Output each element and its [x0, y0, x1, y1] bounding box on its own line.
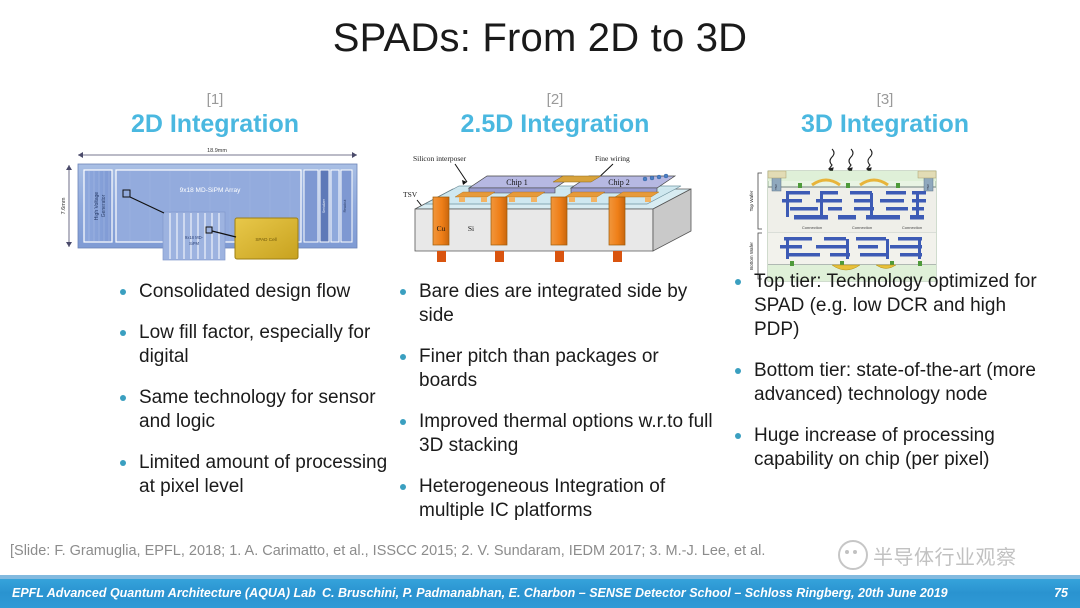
svg-text:Chip 2: Chip 2: [608, 178, 630, 187]
svg-text:TSV: TSV: [403, 190, 418, 199]
citation-note: [Slide: F. Gramuglia, EPFL, 2018; 1. A. …: [10, 543, 765, 559]
svg-text:TSV: TSV: [926, 184, 930, 190]
figure-3d-stacked-cross-section: TSV TSV: [720, 147, 1050, 287]
column-heading-3: 3D Integration: [720, 109, 1050, 139]
svg-text:Readout: Readout: [343, 200, 347, 213]
list-item: Heterogeneous Integration of multiple IC…: [395, 475, 720, 523]
list-item: Consolidated design flow: [115, 280, 405, 304]
svg-text:Serializer: Serializer: [322, 198, 326, 213]
list-item: Same technology for sensor and logic: [115, 386, 405, 434]
column-3d-integration: [3] 3D Integration: [720, 92, 1050, 287]
column-heading-1: 2D Integration: [60, 109, 370, 139]
watermark: 半导体行业观察: [838, 540, 1017, 570]
svg-text:18.9mm: 18.9mm: [207, 148, 227, 154]
column-2d-integration: [1] 2D Integration: [60, 92, 370, 265]
list-item: Finer pitch than packages or boards: [395, 345, 720, 393]
footer-bar: EPFL Advanced Quantum Architecture (AQUA…: [0, 579, 1080, 608]
footer-lab-name: EPFL Advanced Quantum Architecture (AQUA…: [12, 586, 316, 600]
svg-text:Silicon interposer: Silicon interposer: [413, 154, 467, 163]
list-item: Improved thermal options w.r.to full 3D …: [395, 410, 720, 458]
footer-page-number: 75: [1054, 586, 1068, 600]
list-item: Bottom tier: state-of-the-art (more adva…: [730, 359, 1055, 407]
column-heading-2: 2.5D Integration: [395, 109, 715, 139]
list-item: Huge increase of processing capability o…: [730, 424, 1055, 472]
list-item: Limited amount of processing at pixel le…: [115, 451, 405, 499]
bullet-list-3: Top tier: Technology optimized for SPAD …: [730, 270, 1055, 489]
svg-text:Connection: Connection: [802, 225, 822, 230]
list-item: Top tier: Technology optimized for SPAD …: [730, 270, 1055, 342]
svg-text:Fine wiring: Fine wiring: [595, 154, 630, 163]
svg-text:Bottom Wafer: Bottom Wafer: [749, 242, 754, 270]
svg-text:Generator: Generator: [101, 194, 107, 217]
list-item: Bare dies are integrated side by side: [395, 280, 720, 328]
bullet-list-1: Consolidated design flow Low fill factor…: [115, 280, 405, 516]
reference-number-2: [2]: [395, 92, 715, 108]
svg-text:Top Wafer: Top Wafer: [749, 190, 754, 211]
watermark-text: 半导体行业观察: [873, 541, 1017, 570]
figure-silicon-interposer: Silicon interposer Fine wiring TSV C: [395, 147, 715, 267]
bullet-list-2: Bare dies are integrated side by side Fi…: [395, 280, 720, 540]
svg-text:SPAD Cell: SPAD Cell: [255, 237, 276, 242]
reference-number-1: [1]: [60, 92, 370, 108]
footer-authors-event: C. Bruschini, P. Padmanabhan, E. Charbon…: [322, 586, 948, 600]
svg-text:Connection: Connection: [902, 225, 922, 230]
svg-text:SiPM: SiPM: [189, 241, 200, 246]
svg-text:Chip 1: Chip 1: [506, 178, 528, 187]
reference-number-3: [3]: [720, 92, 1050, 108]
svg-text:Connection: Connection: [852, 225, 872, 230]
svg-text:9x18 MD-: 9x18 MD-: [185, 235, 204, 240]
svg-text:Cu: Cu: [437, 224, 446, 233]
svg-text:Si: Si: [468, 224, 474, 233]
page-title: SPADs: From 2D to 3D: [0, 16, 1080, 61]
slide-root: SPADs: From 2D to 3D [1] 2D Integration: [0, 0, 1080, 608]
svg-text:7.6mm: 7.6mm: [61, 197, 67, 214]
list-item: Low fill factor, especially for digital: [115, 321, 405, 369]
watermark-logo-icon: [838, 540, 868, 570]
column-25d-integration: [2] 2.5D Integration Silicon interposer …: [395, 92, 715, 267]
figure-md-sipm-die-layout: 18.9mm 7.6mm High Voltage Ge: [60, 147, 370, 265]
svg-text:High Voltage: High Voltage: [94, 192, 100, 221]
svg-text:9x18 MD-SiPM Array: 9x18 MD-SiPM Array: [180, 187, 241, 194]
svg-text:TSV: TSV: [774, 184, 778, 190]
